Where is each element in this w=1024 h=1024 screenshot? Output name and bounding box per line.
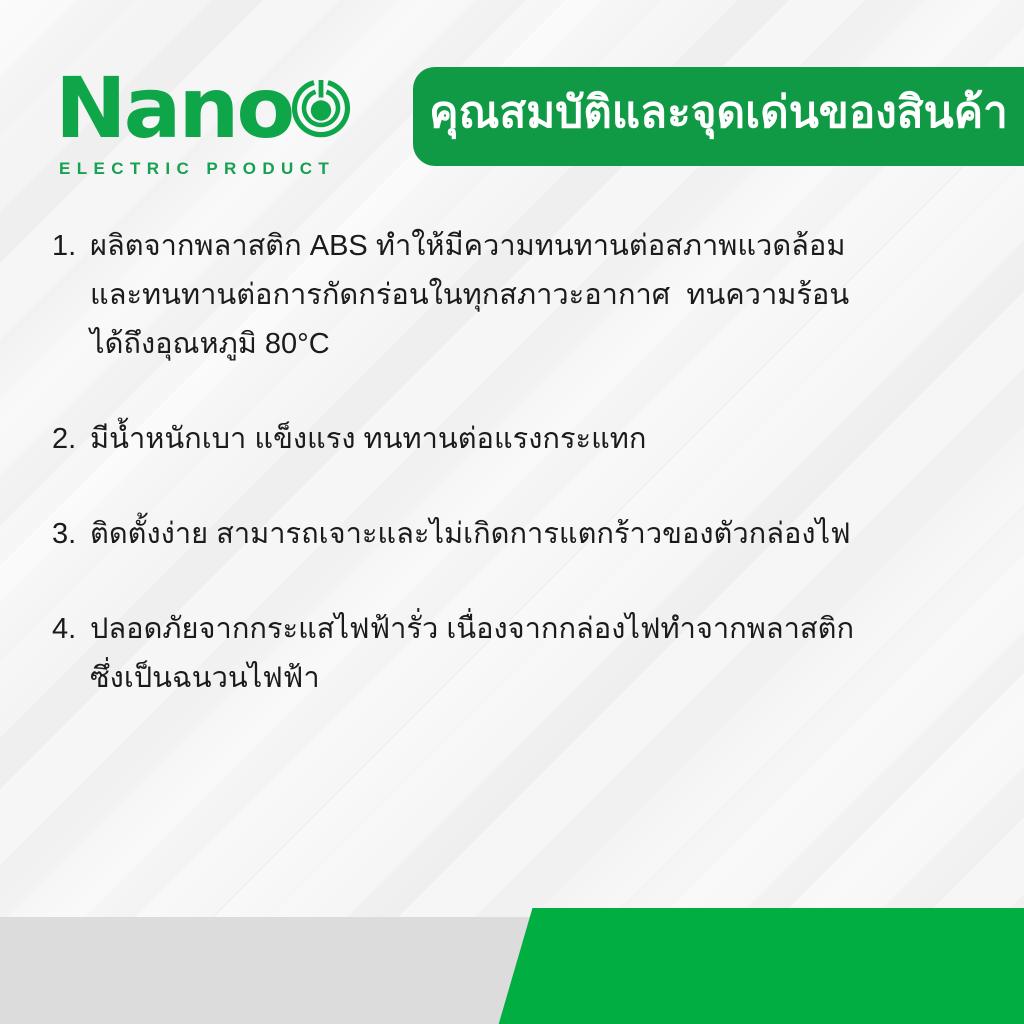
- list-item-text: ติดตั้งง่าย สามารถเจาะและไม่เกิดการแตกร้…: [90, 510, 952, 559]
- list-item-line: ติดตั้งง่าย สามารถเจาะและไม่เกิดการแตกร้…: [90, 510, 952, 559]
- list-item-line: มีน้ำหนักเบา แข็งแรง ทนทานต่อแรงกระแทก: [90, 415, 952, 464]
- list-item-number: 2.: [52, 415, 90, 464]
- list-item-text: ปลอดภัยจากกระแสไฟฟ้ารั่ว เนื่องจากกล่องไ…: [90, 605, 952, 703]
- list-item-number: 3.: [52, 510, 90, 559]
- list-item-line: ได้ถึงอุณหภูมิ 80°C: [90, 320, 952, 369]
- power-ring-icon: [290, 77, 352, 139]
- list-item-text: ผลิตจากพลาสติก ABS ทำให้มีความทนทานต่อสภ…: [90, 222, 952, 369]
- list-item: 2. มีน้ำหนักเบา แข็งแรง ทนทานต่อแรงกระแท…: [52, 415, 952, 464]
- list-item-text: มีน้ำหนักเบา แข็งแรง ทนทานต่อแรงกระแทก: [90, 415, 952, 464]
- list-item-line: ปลอดภัยจากกระแสไฟฟ้ารั่ว เนื่องจากกล่องไ…: [90, 605, 952, 654]
- logo-row: Nano: [55, 66, 355, 150]
- feature-list: 1. ผลิตจากพลาสติก ABS ทำให้มีความทนทานต่…: [52, 222, 952, 703]
- brand-logo: Nano ELECTRIC PRODUCT: [55, 66, 355, 179]
- list-item: 1. ผลิตจากพลาสติก ABS ทำให้มีความทนทานต่…: [52, 222, 952, 369]
- brand-wordmark: Nano: [55, 66, 292, 150]
- list-item-line: ซึ่งเป็นฉนวนไฟฟ้า: [90, 654, 952, 703]
- brand-tagline: ELECTRIC PRODUCT: [59, 159, 355, 179]
- list-item-line: ผลิตจากพลาสติก ABS ทำให้มีความทนทานต่อสภ…: [90, 222, 952, 271]
- list-item-number: 1.: [52, 222, 90, 271]
- product-feature-card: Nano ELECTRIC PRODUCT คุณสมบัติและจุดเด่…: [0, 0, 1024, 1024]
- list-item: 4. ปลอดภัยจากกระแสไฟฟ้ารั่ว เนื่องจากกล่…: [52, 605, 952, 703]
- header-banner: คุณสมบัติและจุดเด่นของสินค้า: [413, 67, 1024, 166]
- list-item-line: และทนทานต่อการกัดกร่อนในทุกสภาวะอากาศ ทน…: [90, 271, 952, 320]
- list-item-number: 4.: [52, 605, 90, 654]
- header-title: คุณสมบัติและจุดเด่นของสินค้า: [429, 90, 1008, 136]
- list-item: 3. ติดตั้งง่าย สามารถเจาะและไม่เกิดการแต…: [52, 510, 952, 559]
